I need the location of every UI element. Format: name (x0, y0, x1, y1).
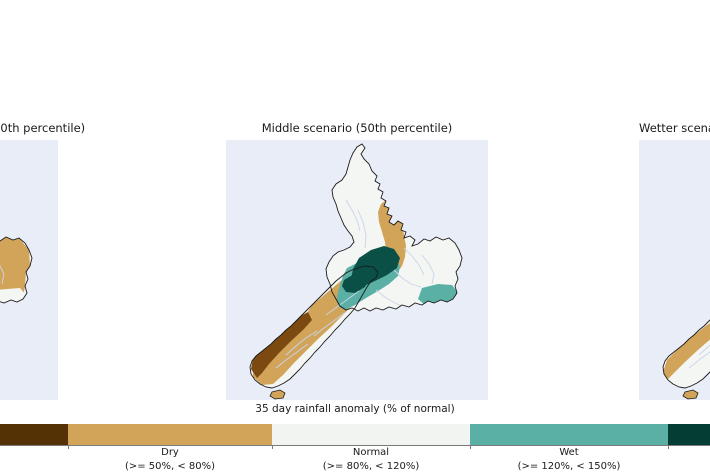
map-panel-wetter[interactable] (639, 140, 710, 400)
colorbar-tick-2 (470, 445, 471, 449)
rainfall-outlook-figure: Rainfall outlook for the next 35 days Fo… (0, 0, 710, 473)
map-panel-drier[interactable] (0, 140, 58, 400)
colorbar-tick-1 (272, 445, 273, 449)
panel-title-wetter: Wetter scenario (90th percentile) (639, 121, 710, 135)
nz-map-middle (226, 140, 488, 400)
colorbar-label-0: Dry(>= 50%, < 80%) (60, 446, 280, 474)
nz-map-wetter (639, 140, 710, 400)
stewart-island (683, 390, 698, 399)
colorbar-tick-0 (68, 445, 69, 449)
colorbar-label-range: (>= 50%, < 80%) (60, 460, 280, 474)
stewart-island (270, 390, 285, 399)
colorbar-label-range: (>= 80%, < 120%) (261, 460, 481, 474)
colorbar-label-name: Wet (459, 446, 679, 460)
colorbar-label-1: Normal(>= 80%, < 120%) (261, 446, 481, 474)
colorbar-label-range: (>= 120%, < 150%) (459, 460, 679, 474)
anomaly-bands (0, 144, 30, 388)
colorbar-title: 35 day rainfall anomaly (% of normal) (0, 403, 710, 415)
panel-title-drier: Drier scenario (10th percentile) (0, 121, 85, 135)
nz-map-drier (0, 140, 58, 400)
map-panel-middle[interactable] (226, 140, 488, 400)
panel-title-middle: Middle scenario (50th percentile) (226, 121, 488, 135)
colorbar-tick-3 (668, 445, 669, 449)
colorbar-label-2: Wet(>= 120%, < 150%) (459, 446, 679, 474)
anomaly-band-3-2 (387, 312, 416, 332)
colorbar-label-name: Normal (261, 446, 481, 460)
colorbar-labels: Dry(>= 50%, < 80%)Normal(>= 80%, < 120%)… (0, 440, 710, 473)
colorbar-label-name: Dry (60, 446, 280, 460)
